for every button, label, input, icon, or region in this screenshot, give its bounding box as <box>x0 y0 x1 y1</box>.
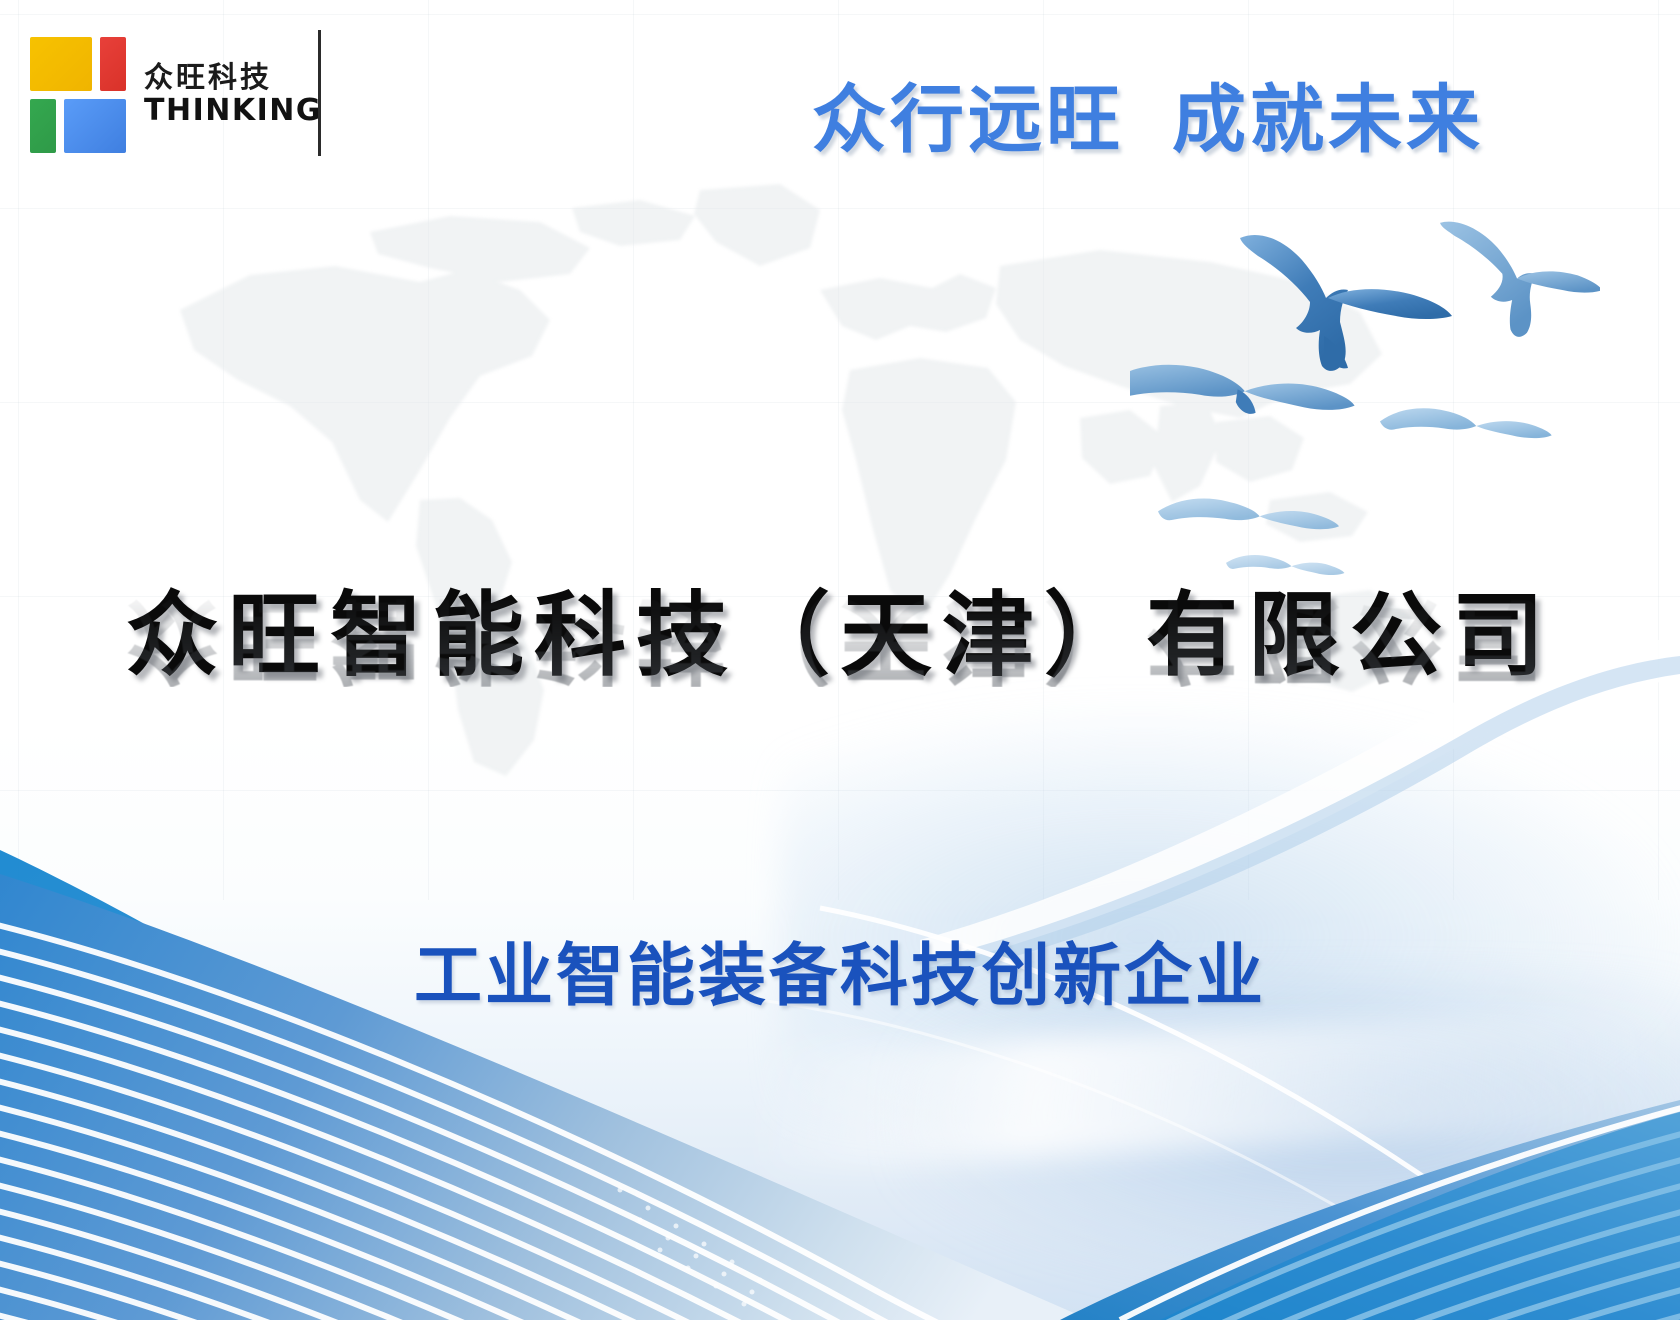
logo-mark-icon <box>30 37 126 149</box>
logo-english-name: THINKING <box>144 96 322 126</box>
company-logo[interactable]: 众旺科技 THINKING <box>30 28 320 158</box>
logo-text-block: 众旺科技 THINKING <box>144 60 322 126</box>
red-tile-icon <box>100 37 126 91</box>
logo-divider <box>318 30 321 156</box>
slogan-part-1: 众行远旺 <box>812 77 1124 163</box>
green-tile-icon <box>30 99 56 153</box>
yellow-tile-icon <box>30 37 92 91</box>
logo-chinese-name: 众旺科技 <box>144 62 322 92</box>
page-title-reflection: 众旺智能科技（天津）有限公司 <box>0 577 1680 687</box>
presentation-slide: 众旺科技 THINKING 众行远旺成就未来 众旺智能科技（天津）有限公司 众旺… <box>0 0 1680 1320</box>
slogan-part-2: 成就未来 <box>1172 77 1484 163</box>
blue-tile-icon <box>64 99 126 153</box>
title-block: 众旺智能科技（天津）有限公司 众旺智能科技（天津）有限公司 <box>0 588 1680 797</box>
header-slogan: 众行远旺成就未来 <box>812 60 1484 167</box>
page-subtitle: 工业智能装备科技创新企业 <box>0 920 1680 1019</box>
